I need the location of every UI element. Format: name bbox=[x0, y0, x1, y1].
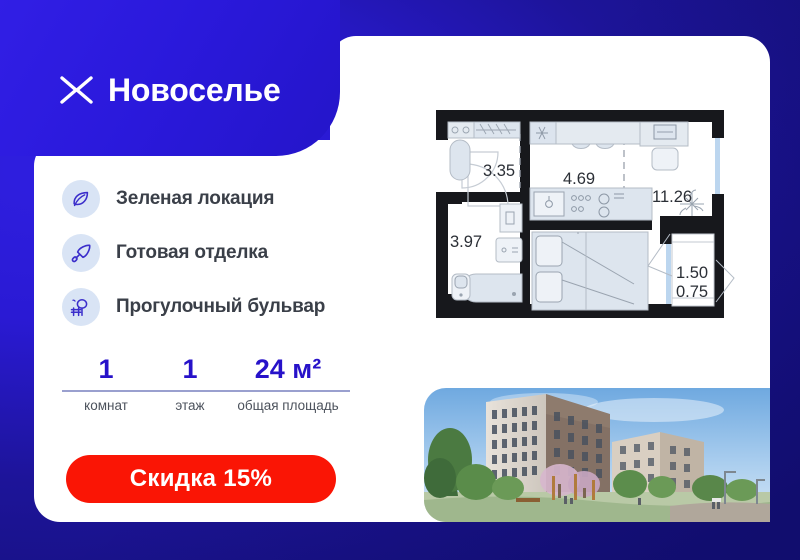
stat-rooms-caption-wrap: комнат bbox=[62, 398, 150, 414]
brand-logo[interactable]: Новоселье bbox=[60, 74, 281, 106]
room-area-hallway: 3.35 bbox=[483, 162, 515, 181]
building-render-image[interactable] bbox=[424, 388, 770, 522]
room-area-living: 11.26 bbox=[652, 188, 692, 207]
stat-area-number: 24 bbox=[255, 354, 285, 384]
stat-caption: комнат bbox=[62, 398, 150, 414]
render-illustration bbox=[424, 388, 770, 522]
stat-values-row: 1 1 24 м² bbox=[62, 356, 350, 383]
feature-item-green-location: Зеленая локация bbox=[62, 176, 352, 222]
feature-list: Зеленая локация Готовая отделка bbox=[62, 176, 352, 338]
trowel-icon bbox=[62, 234, 100, 272]
feature-item-boulevard: Прогулочный бульвар bbox=[62, 284, 352, 330]
feature-label: Прогулочный бульвар bbox=[116, 296, 325, 317]
floor-plan[interactable]: 3.35 4.69 11.26 3.97 1.50 0.75 bbox=[428, 108, 748, 336]
stat-area: 24 м² bbox=[230, 356, 346, 383]
room-area-kitchen: 4.69 bbox=[563, 170, 595, 189]
feature-label: Зеленая локация bbox=[116, 188, 274, 209]
stat-value: 24 м² bbox=[230, 356, 346, 383]
x-mark-icon bbox=[60, 75, 94, 105]
leaf-icon bbox=[62, 180, 100, 218]
stat-floor: 1 bbox=[150, 356, 230, 383]
brand-name: Новоселье bbox=[108, 74, 281, 106]
feature-item-finished-interior: Готовая отделка bbox=[62, 230, 352, 276]
stat-caption: этаж bbox=[150, 398, 230, 414]
discount-button[interactable]: Скидка 15% bbox=[66, 455, 336, 503]
stats-divider bbox=[62, 390, 350, 392]
stat-caption: общая площадь bbox=[230, 398, 346, 414]
park-bench-tree-icon bbox=[62, 288, 100, 326]
apartment-stats: 1 1 24 м² комнат этаж общая площадь bbox=[62, 356, 350, 414]
room-area-bathroom: 3.97 bbox=[450, 233, 482, 252]
stat-value: 1 bbox=[150, 356, 230, 383]
stat-rooms: 1 bbox=[62, 356, 150, 383]
stat-area-unit: м² bbox=[292, 354, 321, 384]
feature-label: Готовая отделка bbox=[116, 242, 268, 263]
stat-area-caption-wrap: общая площадь bbox=[230, 398, 346, 414]
stat-captions-row: комнат этаж общая площадь bbox=[62, 398, 350, 414]
stat-value: 1 bbox=[62, 356, 150, 383]
stat-floor-caption-wrap: этаж bbox=[150, 398, 230, 414]
promo-card: Новоселье Зеленая локация Готовая отделк… bbox=[0, 0, 800, 560]
balcony-area: 1.50 bbox=[676, 264, 708, 283]
balcony-area-coeff: 0.75 bbox=[676, 283, 708, 302]
